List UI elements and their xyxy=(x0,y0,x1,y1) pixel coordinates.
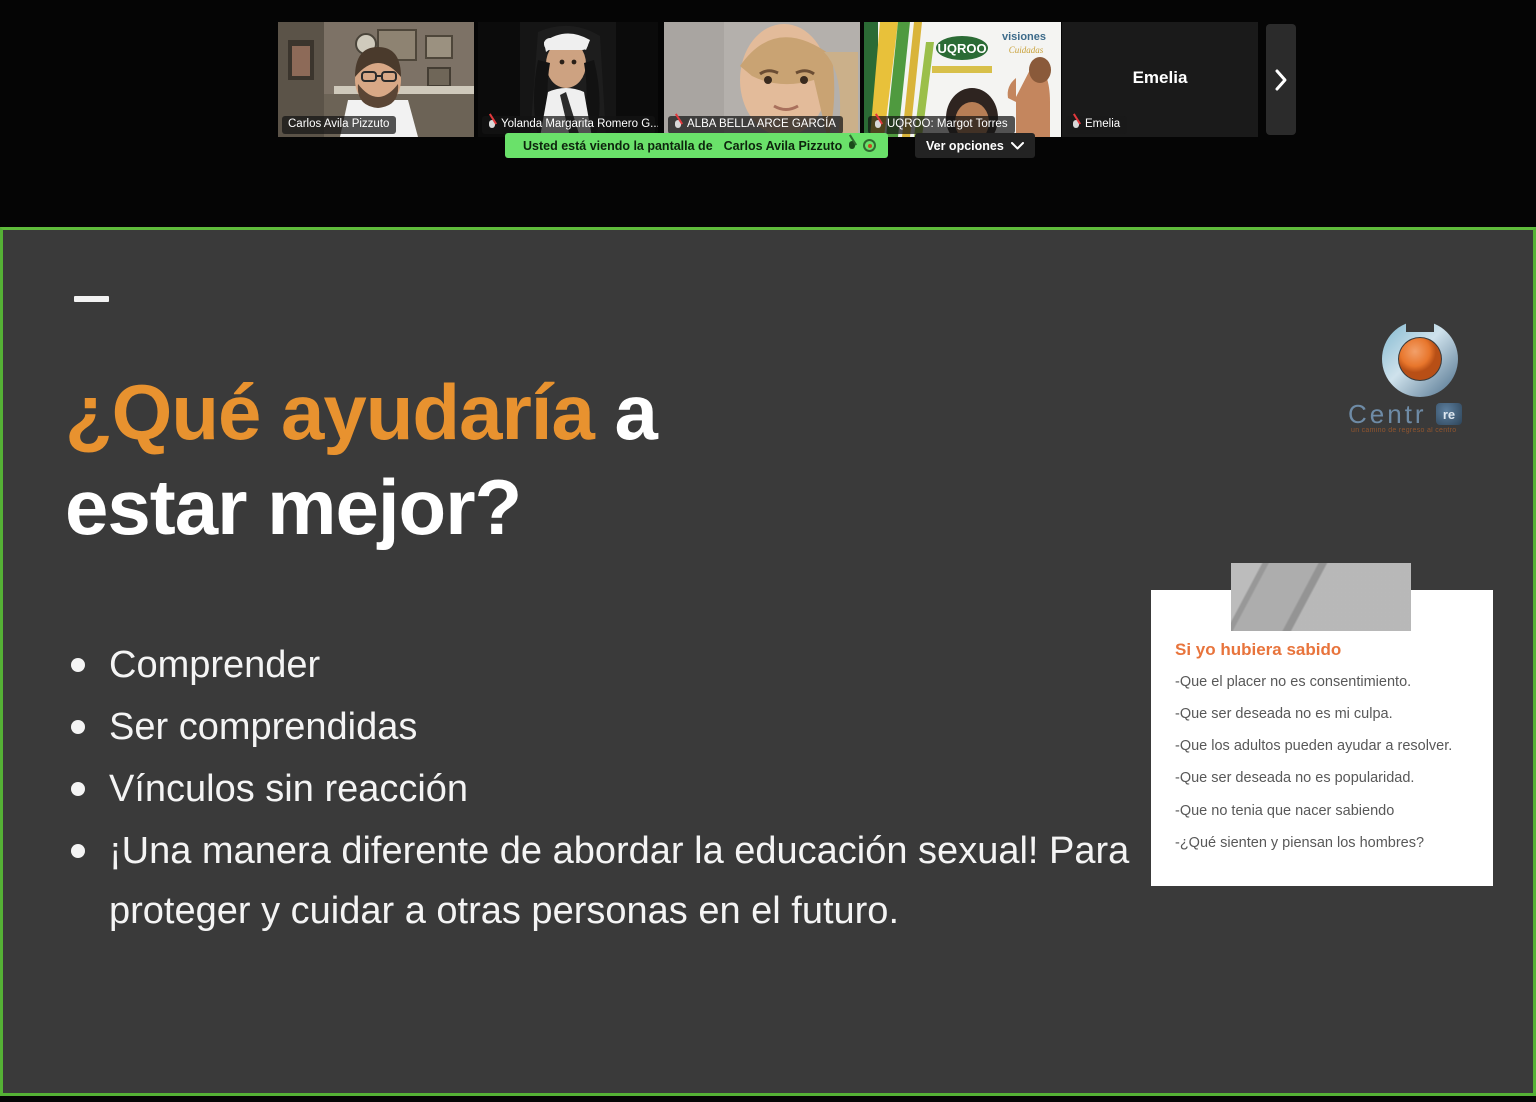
participant-placeholder-name-4: Emelia xyxy=(1062,68,1258,88)
bullet-text: Comprender xyxy=(109,635,1131,695)
logo-tagline: un camino de regreso al centro xyxy=(1351,427,1473,434)
svg-text:visiones: visiones xyxy=(1002,31,1046,43)
participant-name-badge-2: ALBA BELLA ARCE GARCÍA xyxy=(668,116,843,134)
filmstrip-next-button[interactable] xyxy=(1266,24,1296,135)
participant-tile-3[interactable]: UQROO visiones Cuidadas UQROO: Margot To… xyxy=(864,22,1061,137)
list-item: Comprender xyxy=(71,635,1131,695)
mic-off-icon xyxy=(874,119,883,131)
mic-off-icon xyxy=(848,140,857,152)
participant-name-badge-0: Carlos Avila Pizzuto xyxy=(282,116,396,134)
card-photo-decoration xyxy=(1231,563,1411,631)
slide-bullet-list: Comprender Ser comprendidas Vínculos sin… xyxy=(71,635,1131,943)
slide-image-card: Si yo hubiera sabido -Que el placer no e… xyxy=(1151,590,1493,886)
recording-dot-icon xyxy=(863,139,876,152)
bullet-text: Ser comprendidas xyxy=(109,697,1131,757)
card-line: -¿Qué sienten y piensan los hombres? xyxy=(1175,834,1475,853)
presentation-slide: ¿Qué ayudaría a estar mejor? Comprender … xyxy=(3,230,1533,1093)
screen-share-status-bar: Usted está viendo la pantalla de Carlos … xyxy=(505,133,888,158)
list-item: ¡Una manera diferente de abordar la educ… xyxy=(71,821,1131,941)
card-line: -Que no tenia que nacer sabiendo xyxy=(1175,802,1475,821)
participant-name-1: Yolanda Margarita Romero G... xyxy=(501,117,658,132)
chevron-right-icon xyxy=(1273,67,1289,93)
participant-name-badge-4: Emelia xyxy=(1066,116,1127,134)
centrre-logo: Centr re un camino de regreso al centro xyxy=(1348,315,1473,450)
bullet-text: Vínculos sin reacción xyxy=(109,759,1131,819)
mic-off-icon xyxy=(488,119,497,131)
participant-name-3: UQROO: Margot Torres xyxy=(887,117,1008,132)
slide-title-rest: a xyxy=(594,368,657,456)
card-line: -Que los adultos pueden ayudar a resolve… xyxy=(1175,737,1475,756)
participant-tile-1[interactable]: Yolanda Margarita Romero G... xyxy=(478,22,658,137)
logo-ring-icon xyxy=(1376,315,1464,403)
chevron-down-icon xyxy=(1011,142,1024,150)
view-options-label: Ver opciones xyxy=(926,139,1004,153)
screen-share-status-text: Usted está viendo la pantalla de xyxy=(523,139,713,153)
participant-name-2: ALBA BELLA ARCE GARCÍA xyxy=(687,117,836,132)
slide-dash-decoration xyxy=(74,296,109,302)
list-item: Vínculos sin reacción xyxy=(71,759,1131,819)
mic-off-icon xyxy=(674,119,683,131)
card-line: -Que el placer no es consentimiento. xyxy=(1175,673,1475,692)
zoom-meeting-window: Carlos Avila Pizzuto Yolanda Ma xyxy=(0,0,1536,1102)
card-content: Si yo hubiera sabido -Que el placer no e… xyxy=(1175,640,1475,866)
participant-tile-2[interactable]: ALBA BELLA ARCE GARCÍA xyxy=(664,22,860,137)
participant-name-4: Emelia xyxy=(1085,117,1120,132)
mic-off-icon xyxy=(1072,119,1081,131)
participant-filmstrip: Carlos Avila Pizzuto Yolanda Ma xyxy=(0,0,1536,225)
shared-screen-frame[interactable]: ¿Qué ayudaría a estar mejor? Comprender … xyxy=(0,227,1536,1096)
card-line: -Que ser deseada no es popularidad. xyxy=(1175,769,1475,788)
bullet-dot-icon xyxy=(71,782,85,796)
svg-text:UQROO: UQROO xyxy=(937,41,986,56)
logo-re-badge: re xyxy=(1436,403,1462,425)
participant-tile-0[interactable]: Carlos Avila Pizzuto xyxy=(278,22,474,137)
card-line: -Que ser deseada no es mi culpa. xyxy=(1175,705,1475,724)
svg-text:Cuidadas: Cuidadas xyxy=(1009,45,1044,55)
participant-name-badge-3: UQROO: Margot Torres xyxy=(868,116,1015,134)
slide-title-line2: estar mejor? xyxy=(65,463,521,551)
list-item: Ser comprendidas xyxy=(71,697,1131,757)
slide-title-highlight: ¿Qué ayudaría xyxy=(65,368,594,456)
bullet-dot-icon xyxy=(71,844,85,858)
participant-name-badge-1: Yolanda Margarita Romero G... xyxy=(482,116,655,134)
participant-name-0: Carlos Avila Pizzuto xyxy=(288,117,389,132)
participant-tile-4[interactable]: Emelia Emelia xyxy=(1062,22,1258,137)
card-title: Si yo hubiera sabido xyxy=(1175,640,1475,660)
bullet-text: ¡Una manera diferente de abordar la educ… xyxy=(109,821,1131,941)
screen-share-presenter-name: Carlos Avila Pizzuto xyxy=(724,139,843,153)
slide-title: ¿Qué ayudaría a estar mejor? xyxy=(65,365,965,555)
view-options-button[interactable]: Ver opciones xyxy=(915,133,1035,158)
bullet-dot-icon xyxy=(71,658,85,672)
bullet-dot-icon xyxy=(71,720,85,734)
